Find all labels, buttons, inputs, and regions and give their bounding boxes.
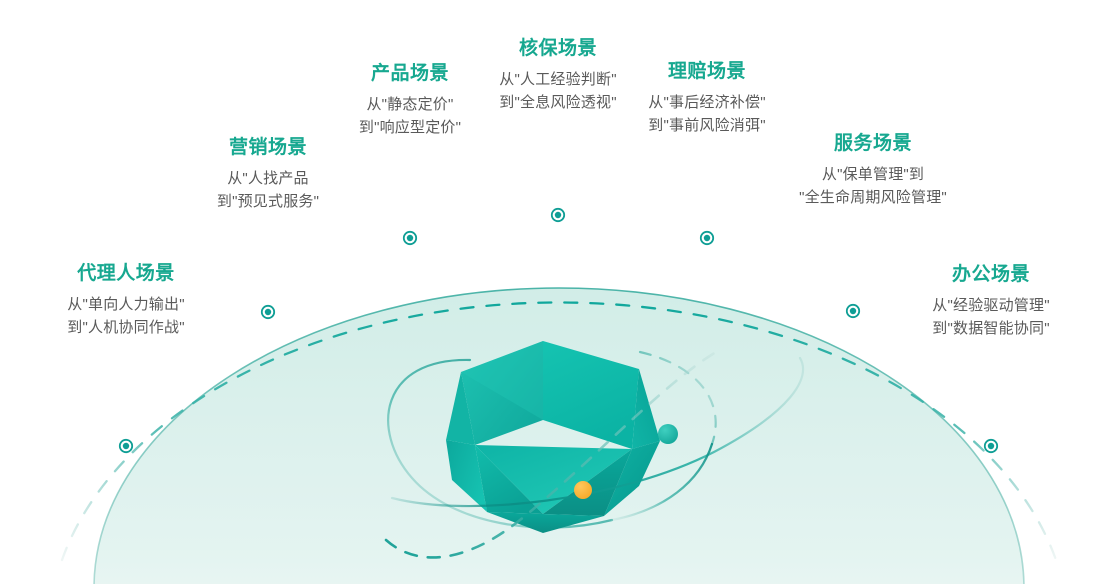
node-marker-underwriting[interactable] <box>551 208 566 223</box>
scene-title-underwriting: 核保场景 <box>499 37 616 61</box>
scene-title-agent: 代理人场景 <box>67 262 184 286</box>
scene-desc-line: 从"人工经验判断" <box>499 68 616 91</box>
scene-label-service: 服务场景从"保单管理"到"全生命周期风险管理" <box>799 132 947 209</box>
scene-desc-line: 到"事前风险消弭" <box>648 114 765 137</box>
dome-shape <box>94 288 1024 584</box>
node-marker-marketing[interactable] <box>261 305 276 320</box>
scene-label-marketing: 营销场景从"人找产品到"预见式服务" <box>217 136 319 213</box>
scene-desc-line: 从"人找产品 <box>217 167 319 190</box>
scene-desc-line: 从"保单管理"到 <box>799 163 947 186</box>
scene-label-underwriting: 核保场景从"人工经验判断"到"全息风险透视" <box>499 37 616 114</box>
scene-desc-line: 从"事后经济补偿" <box>648 91 765 114</box>
scene-desc-line: 从"单向人力输出" <box>67 293 184 316</box>
scene-label-office: 办公场景从"经验驱动管理"到"数据智能协同" <box>932 263 1049 340</box>
scene-title-claims: 理赔场景 <box>648 60 765 84</box>
orbit-sphere <box>658 424 678 444</box>
scene-title-office: 办公场景 <box>932 263 1049 287</box>
scene-title-service: 服务场景 <box>799 132 947 156</box>
scene-desc-line: 到"响应型定价" <box>359 116 461 139</box>
scene-desc-line: 到"人机协同作战" <box>67 316 184 339</box>
infographic-canvas: 代理人场景从"单向人力输出"到"人机协同作战"营销场景从"人找产品到"预见式服务… <box>0 0 1118 584</box>
scene-desc-line: 到"数据智能协同" <box>932 317 1049 340</box>
node-marker-service[interactable] <box>846 304 861 319</box>
node-marker-claims[interactable] <box>700 231 715 246</box>
scene-desc-line: 从"经验驱动管理" <box>932 294 1049 317</box>
scene-title-marketing: 营销场景 <box>217 136 319 160</box>
scene-label-claims: 理赔场景从"事后经济补偿"到"事前风险消弭" <box>648 60 765 137</box>
scene-label-agent: 代理人场景从"单向人力输出"到"人机协同作战" <box>67 262 184 339</box>
orbit-accent-dot <box>574 481 592 499</box>
scene-desc-line: 从"静态定价" <box>359 93 461 116</box>
node-marker-agent[interactable] <box>119 439 134 454</box>
scene-desc-line: 到"全息风险透视" <box>499 91 616 114</box>
scene-desc-line: "全生命周期风险管理" <box>799 186 947 209</box>
node-marker-product[interactable] <box>403 231 418 246</box>
scene-label-product: 产品场景从"静态定价"到"响应型定价" <box>359 62 461 139</box>
node-marker-office[interactable] <box>984 439 999 454</box>
scene-desc-line: 到"预见式服务" <box>217 190 319 213</box>
scene-title-product: 产品场景 <box>359 62 461 86</box>
